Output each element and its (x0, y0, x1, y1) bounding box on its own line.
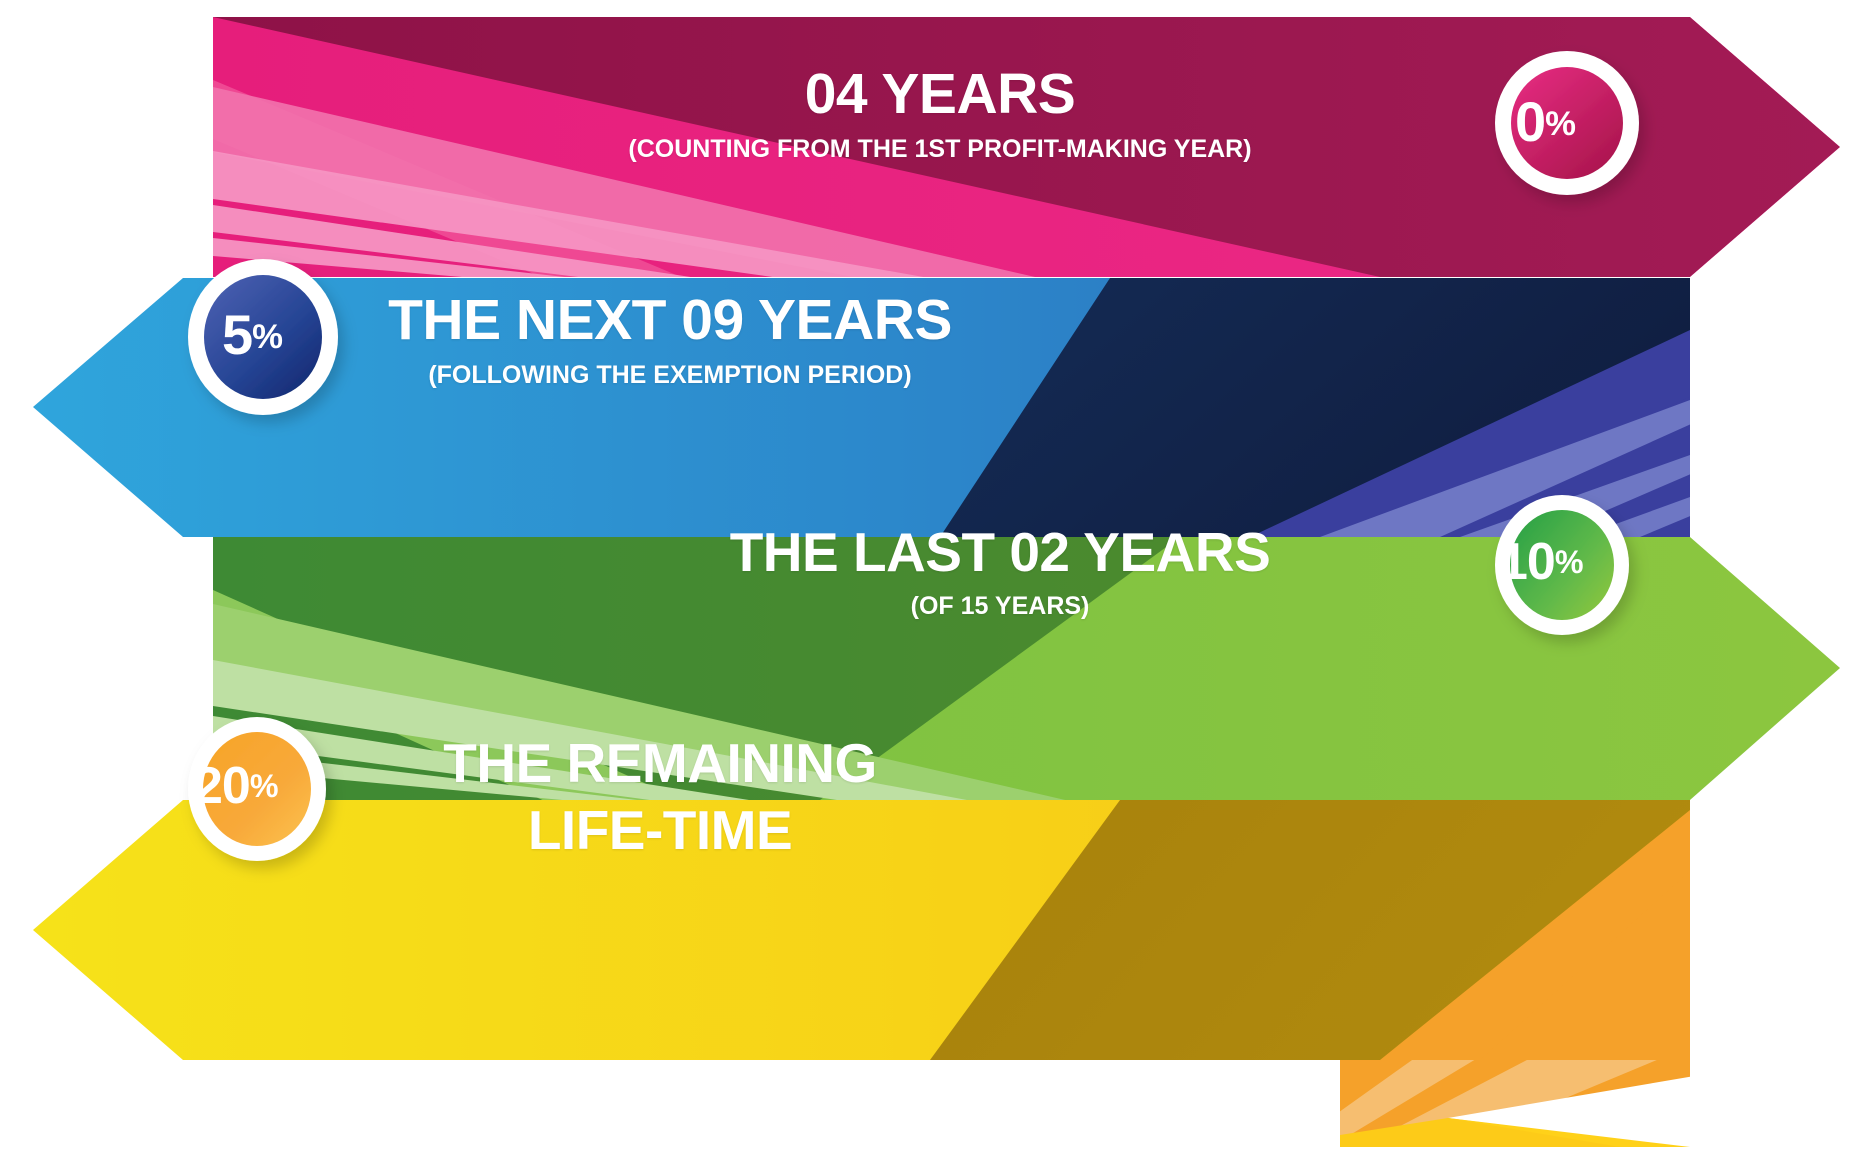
percent-badge-5 (188, 259, 338, 415)
percent-badge-10 (1495, 495, 1629, 635)
percent-badge-0 (1495, 51, 1639, 195)
percent-badge-20 (188, 717, 326, 861)
infographic-stage: 04 YEARS (COUNTING FROM THE 1ST PROFIT-M… (0, 0, 1860, 1153)
banner-graphics (0, 0, 1860, 1153)
